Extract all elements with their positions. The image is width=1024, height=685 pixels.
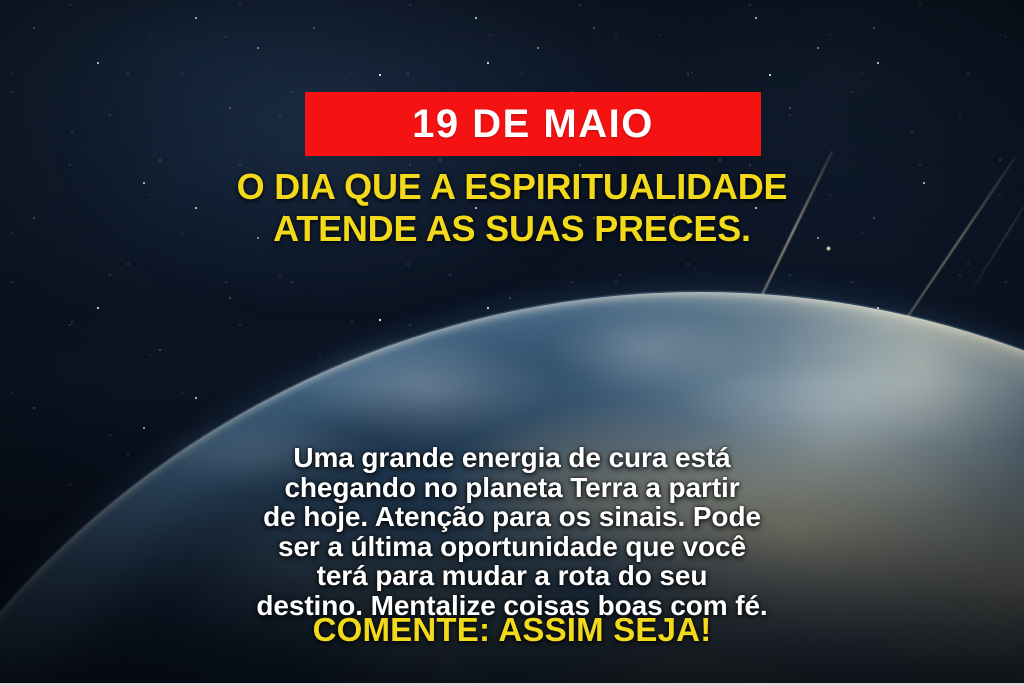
date-badge-label: 19 DE MAIO bbox=[412, 104, 654, 144]
headline-line-1: O DIA QUE A ESPIRITUALIDADE bbox=[0, 166, 1024, 208]
poster-image: 19 DE MAIO O DIA QUE A ESPIRITUALIDADE A… bbox=[0, 0, 1024, 685]
body-line-2: chegando no planeta Terra a partir bbox=[0, 473, 1024, 503]
headline: O DIA QUE A ESPIRITUALIDADE ATENDE AS SU… bbox=[0, 166, 1024, 250]
body-line-3: de hoje. Atenção para os sinais. Pode bbox=[0, 502, 1024, 532]
call-to-action-label: COMENTE: ASSIM SEJA! bbox=[0, 612, 1024, 648]
body-line-1: Uma grande energia de cura está bbox=[0, 443, 1024, 473]
body-line-4: ser a última oportunidade que você bbox=[0, 532, 1024, 562]
date-badge: 19 DE MAIO bbox=[305, 92, 761, 156]
headline-line-2: ATENDE AS SUAS PRECES. bbox=[0, 208, 1024, 250]
poster-content: 19 DE MAIO O DIA QUE A ESPIRITUALIDADE A… bbox=[0, 0, 1024, 683]
body-copy: Uma grande energia de cura está chegando… bbox=[0, 443, 1024, 620]
body-line-5: terá para mudar a rota do seu bbox=[0, 561, 1024, 591]
